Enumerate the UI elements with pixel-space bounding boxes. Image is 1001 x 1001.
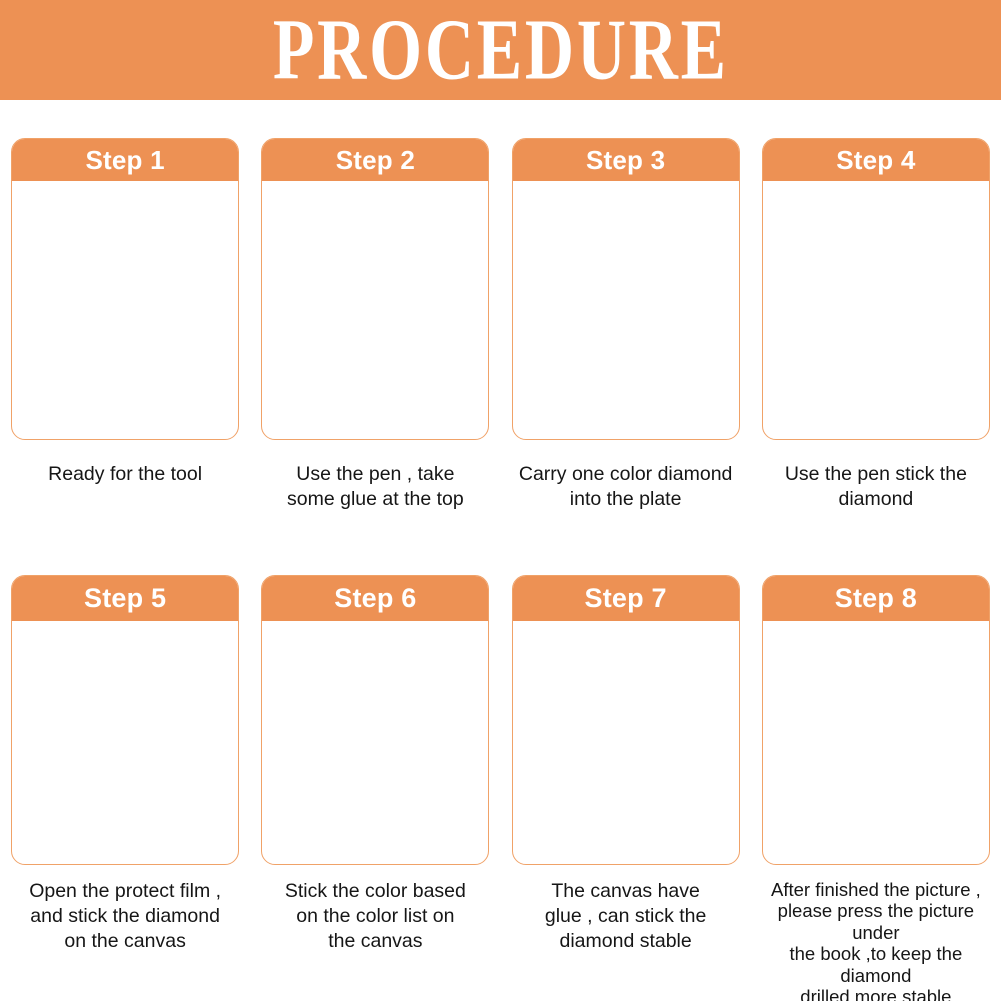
step-label-7: Step 7 xyxy=(585,585,667,612)
step-header-4: Step 4 xyxy=(763,139,989,181)
step-label-2: Step 2 xyxy=(336,147,415,173)
step-cell-7: Step 7 The canvas have glue , can stick … xyxy=(501,575,751,1001)
page-banner: PROCEDURE xyxy=(0,0,1001,100)
step-header-7: Step 7 xyxy=(513,576,739,621)
step-caption-2: Use the pen , take some glue at the top xyxy=(259,462,491,512)
procedure-infographic: PROCEDURE Step 1 Ready fo xyxy=(0,0,1001,1001)
step-caption-6: Stick the color based on the color list … xyxy=(259,879,491,954)
step-card-7: Step 7 xyxy=(512,575,740,865)
steps-row-top: Step 1 Ready for the tool Step xyxy=(0,138,1001,512)
step-caption-8: After finished the picture , please pres… xyxy=(754,879,998,1001)
step-label-5: Step 5 xyxy=(84,585,166,612)
step-header-3: Step 3 xyxy=(513,139,739,181)
step-card-6: Step 6 No.SymbolDMC112230033307443105558… xyxy=(261,575,489,865)
step-label-3: Step 3 xyxy=(586,147,665,173)
step-header-2: Step 2 xyxy=(262,139,488,181)
step-label-6: Step 6 xyxy=(334,585,416,612)
step-header-8: Step 8 xyxy=(763,576,989,621)
step-header-6: Step 6 xyxy=(262,576,488,621)
step-caption-7: The canvas have glue , can stick the dia… xyxy=(510,879,742,954)
step-card-1: Step 1 xyxy=(11,138,239,440)
step-card-5: Step 5 xyxy=(11,575,239,865)
step-card-8: Step 8 xyxy=(762,575,990,865)
step-card-3: Step 3 xyxy=(512,138,740,440)
step-caption-1: Ready for the tool xyxy=(9,462,241,487)
step-caption-5: Open the protect film , and stick the di… xyxy=(9,879,241,954)
page-title: PROCEDURE xyxy=(272,6,728,93)
step-label-4: Step 4 xyxy=(836,147,915,173)
step-card-2: Step 2 xyxy=(261,138,489,440)
step-cell-4: Step 4 Use the pen stick the diamond xyxy=(751,138,1001,512)
step-label-8: Step 8 xyxy=(835,585,917,612)
step-cell-3: Step 3 Carry one color diamond into the … xyxy=(501,138,751,512)
step-caption-4: Use the pen stick the diamond xyxy=(760,462,992,512)
step-cell-8: Step 8 After finished the picture , plea… xyxy=(751,575,1001,1001)
step-label-1: Step 1 xyxy=(86,147,165,173)
steps-row-bottom: Step 5 Open the protect film , and stick… xyxy=(0,575,1001,1001)
step-caption-3: Carry one color diamond into the plate xyxy=(510,462,742,512)
step-header-1: Step 1 xyxy=(12,139,238,181)
step-card-4: Step 4 xyxy=(762,138,990,440)
step-cell-6: Step 6 No.SymbolDMC112230033307443105558… xyxy=(250,575,500,1001)
step-cell-2: Step 2 Use the pen , take so xyxy=(250,138,500,512)
step-cell-5: Step 5 Open the protect film , and stick… xyxy=(0,575,250,1001)
step-cell-1: Step 1 Ready for the tool xyxy=(0,138,250,512)
step-header-5: Step 5 xyxy=(12,576,238,621)
